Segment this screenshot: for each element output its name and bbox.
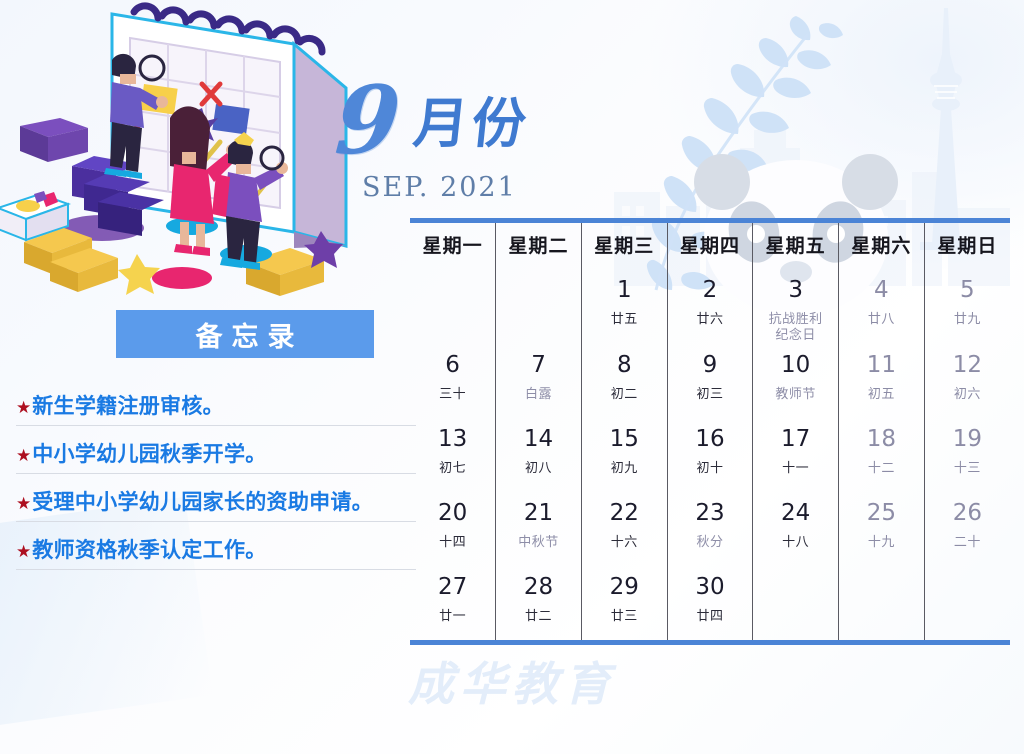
memo-item: ★ 教师资格秋季认定工作。	[16, 534, 416, 570]
star-icon: ★	[16, 447, 31, 464]
calendar-poster: 成华教育	[0, 0, 1024, 754]
calendar-day-cell[interactable]: 13初七	[410, 418, 496, 492]
day-lunar-label: 二十	[925, 525, 1010, 550]
calendar-week-row: 27廿一28廿二29廿三30廿四	[410, 566, 1010, 640]
day-lunar-label: 廿五	[582, 302, 667, 327]
day-number: 15	[582, 418, 667, 451]
memo-item: ★ 受理中小学幼儿园家长的资助申请。	[16, 486, 416, 522]
day-lunar-label: 十一	[753, 451, 838, 476]
day-number: 27	[410, 566, 495, 599]
calendar-day-cell[interactable]: 11初五	[839, 344, 925, 418]
day-lunar-label: 十六	[582, 525, 667, 550]
weekday-header-fri: 星期五	[753, 223, 839, 269]
day-lunar-label: 秋分	[668, 525, 753, 550]
day-number: 25	[839, 492, 924, 525]
calendar-day-cell[interactable]: 20十四	[410, 492, 496, 566]
calendar-day-cell[interactable]: 26二十	[924, 492, 1010, 566]
calendar-day-cell[interactable]: 24十八	[753, 492, 839, 566]
calendar-cell-empty	[839, 566, 925, 640]
day-lunar-label: 廿一	[410, 599, 495, 624]
calendar-day-cell[interactable]: 7白露	[496, 344, 582, 418]
day-lunar-label: 十三	[925, 451, 1010, 476]
day-lunar-label: 初七	[410, 451, 495, 476]
weekday-header-sun: 星期日	[924, 223, 1010, 269]
day-number: 12	[925, 344, 1010, 377]
calendar-day-cell[interactable]: 1廿五	[581, 269, 667, 344]
day-lunar-label: 廿四	[668, 599, 753, 624]
day-number: 22	[582, 492, 667, 525]
memo-item: ★ 中小学幼儿园秋季开学。	[16, 438, 416, 474]
calendar-day-cell[interactable]: 16初十	[667, 418, 753, 492]
calendar-header-row: 星期一 星期二 星期三 星期四 星期五 星期六 星期日	[410, 223, 1010, 269]
day-number: 8	[582, 344, 667, 377]
day-number: 16	[668, 418, 753, 451]
calendar-cell-empty	[924, 566, 1010, 640]
day-lunar-label: 初八	[496, 451, 581, 476]
weekday-header-wed: 星期三	[581, 223, 667, 269]
memo-list: ★ 新生学籍注册审核。 ★ 中小学幼儿园秋季开学。 ★ 受理中小学幼儿园家长的资…	[16, 390, 416, 582]
calendar-day-cell[interactable]: 15初九	[581, 418, 667, 492]
star-icon: ★	[16, 495, 31, 512]
day-number: 11	[839, 344, 924, 377]
title-block: 9 月份 SEP. 2021	[336, 62, 576, 212]
calendar-day-cell[interactable]: 19十三	[924, 418, 1010, 492]
memo-item-text: 教师资格秋季认定工作。	[32, 534, 266, 564]
calendar-cell-empty	[496, 269, 582, 344]
calendar-day-cell[interactable]: 29廿三	[581, 566, 667, 640]
day-number: 29	[582, 566, 667, 599]
day-number: 7	[496, 344, 581, 377]
calendar-day-cell[interactable]: 2廿六	[667, 269, 753, 344]
calendar-week-row: 20十四21中秋节22十六23秋分24十八25十九26二十	[410, 492, 1010, 566]
weekday-header-mon: 星期一	[410, 223, 496, 269]
star-icon: ★	[16, 543, 31, 560]
calendar-day-cell[interactable]: 21中秋节	[496, 492, 582, 566]
day-lunar-label: 初十	[668, 451, 753, 476]
day-lunar-label: 抗战胜利纪念日	[753, 302, 838, 344]
day-lunar-label: 十八	[753, 525, 838, 550]
day-number: 6	[410, 344, 495, 377]
calendar-day-cell[interactable]: 9初三	[667, 344, 753, 418]
day-lunar-label: 中秋节	[496, 525, 581, 550]
brand-watermark: 成华教育	[0, 648, 1024, 714]
day-lunar-label: 初九	[582, 451, 667, 476]
day-number: 10	[753, 344, 838, 377]
day-number: 26	[925, 492, 1010, 525]
day-lunar-label: 廿三	[582, 599, 667, 624]
day-number: 19	[925, 418, 1010, 451]
month-label-cn: 月份	[411, 96, 533, 150]
calendar-table-wrapper: 星期一 星期二 星期三 星期四 星期五 星期六 星期日 1廿五2廿六3抗战胜利纪…	[410, 218, 1010, 645]
day-lunar-label: 初六	[925, 377, 1010, 402]
calendar-week-row: 1廿五2廿六3抗战胜利纪念日4廿八5廿九	[410, 269, 1010, 344]
day-lunar-label: 廿八	[839, 302, 924, 327]
day-lunar-label: 初五	[839, 377, 924, 402]
calendar-body: 1廿五2廿六3抗战胜利纪念日4廿八5廿九6三十7白露8初二9初三10教师节11初…	[410, 269, 1010, 640]
day-lunar-label: 廿二	[496, 599, 581, 624]
day-number: 3	[753, 269, 838, 302]
weekday-header-tue: 星期二	[496, 223, 582, 269]
day-lunar-label: 廿六	[668, 302, 753, 327]
memo-heading: 备忘录	[116, 310, 374, 358]
day-number: 14	[496, 418, 581, 451]
month-number: 9	[333, 80, 403, 160]
calendar-day-cell[interactable]: 10教师节	[753, 344, 839, 418]
day-number: 2	[668, 269, 753, 302]
day-lunar-label: 白露	[496, 377, 581, 402]
calendar-table: 星期一 星期二 星期三 星期四 星期五 星期六 星期日 1廿五2廿六3抗战胜利纪…	[410, 223, 1010, 640]
memo-item-text: 中小学幼儿园秋季开学。	[32, 438, 266, 468]
calendar-week-row: 13初七14初八15初九16初十17十一18十二19十三	[410, 418, 1010, 492]
memo-item-text: 新生学籍注册审核。	[32, 390, 224, 420]
calendar-illustration	[0, 0, 366, 296]
calendar-day-cell[interactable]: 8初二	[581, 344, 667, 418]
day-number: 30	[668, 566, 753, 599]
weekday-header-thu: 星期四	[667, 223, 753, 269]
calendar-day-cell[interactable]: 30廿四	[667, 566, 753, 640]
day-number: 18	[839, 418, 924, 451]
day-number: 20	[410, 492, 495, 525]
calendar-day-cell[interactable]: 12初六	[924, 344, 1010, 418]
day-lunar-label: 三十	[410, 377, 495, 402]
day-number: 23	[668, 492, 753, 525]
day-lunar-label: 初二	[582, 377, 667, 402]
day-number: 17	[753, 418, 838, 451]
calendar-day-cell[interactable]: 22十六	[581, 492, 667, 566]
calendar-cell-empty	[410, 269, 496, 344]
calendar-day-cell[interactable]: 3抗战胜利纪念日	[753, 269, 839, 344]
day-number: 28	[496, 566, 581, 599]
day-number: 13	[410, 418, 495, 451]
day-number: 9	[668, 344, 753, 377]
memo-item: ★ 新生学籍注册审核。	[16, 390, 416, 426]
calendar-day-cell[interactable]: 27廿一	[410, 566, 496, 640]
day-lunar-label: 十二	[839, 451, 924, 476]
weekday-header-sat: 星期六	[839, 223, 925, 269]
calendar-week-row: 6三十7白露8初二9初三10教师节11初五12初六	[410, 344, 1010, 418]
day-lunar-label: 廿九	[925, 302, 1010, 327]
month-label-en: SEP. 2021	[362, 172, 576, 203]
day-lunar-label: 教师节	[753, 377, 838, 402]
calendar-day-cell[interactable]: 23秋分	[667, 492, 753, 566]
day-number: 5	[925, 269, 1010, 302]
calendar-day-cell[interactable]: 14初八	[496, 418, 582, 492]
day-lunar-label: 初三	[668, 377, 753, 402]
calendar-day-cell[interactable]: 28廿二	[496, 566, 582, 640]
day-lunar-label: 十九	[839, 525, 924, 550]
day-number: 1	[582, 269, 667, 302]
calendar-day-cell[interactable]: 4廿八	[839, 269, 925, 344]
calendar-day-cell[interactable]: 5廿九	[924, 269, 1010, 344]
day-number: 4	[839, 269, 924, 302]
day-lunar-label: 十四	[410, 525, 495, 550]
calendar-day-cell[interactable]: 6三十	[410, 344, 496, 418]
day-number: 24	[753, 492, 838, 525]
calendar-day-cell[interactable]: 25十九	[839, 492, 925, 566]
star-icon: ★	[16, 399, 31, 416]
memo-item-text: 受理中小学幼儿园家长的资助申请。	[32, 486, 373, 516]
day-number: 21	[496, 492, 581, 525]
calendar-cell-empty	[753, 566, 839, 640]
month-heading: 9 月份	[336, 62, 576, 158]
calendar-day-cell[interactable]: 18十二	[839, 418, 925, 492]
calendar-day-cell[interactable]: 17十一	[753, 418, 839, 492]
